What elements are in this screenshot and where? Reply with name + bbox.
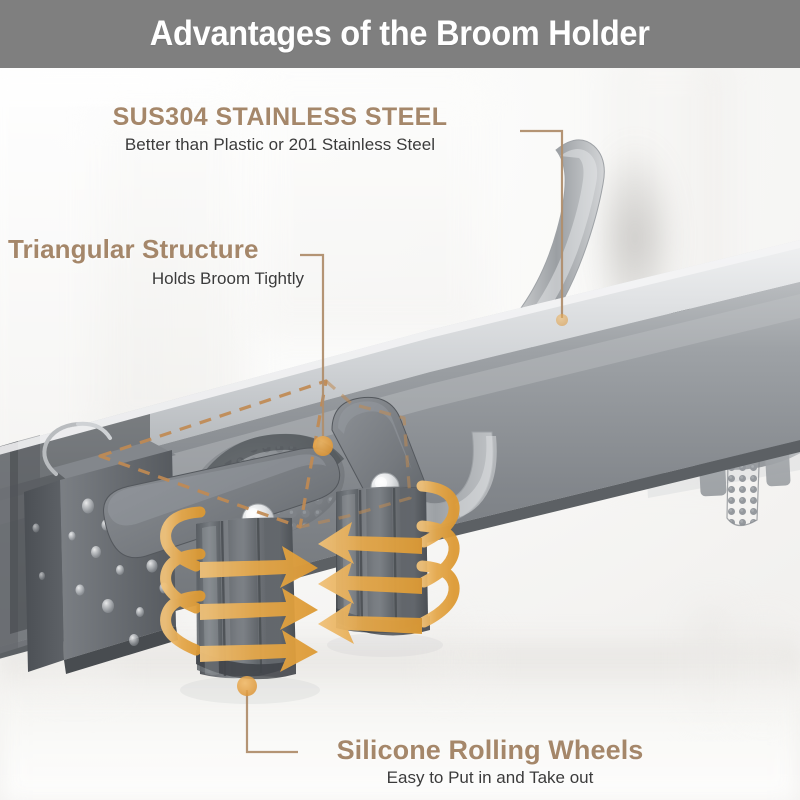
callout-title-triangular: Triangular Structure: [8, 236, 308, 264]
callout-silicone-rolling-wheels: Silicone Rolling Wheels Easy to Put in a…: [290, 736, 690, 787]
wheel-shadow-left: [180, 676, 320, 704]
callout-title-sus304: SUS304 STAINLESS STEEL: [0, 104, 560, 131]
callout-sus304-stainless-steel: SUS304 STAINLESS STEEL Better than Plast…: [0, 104, 560, 154]
wheel-shadow-right: [327, 633, 443, 657]
callout-triangular-structure: Triangular Structure Holds Broom Tightly: [8, 236, 308, 288]
header-banner: Advantages of the Broom Holder: [0, 0, 800, 68]
callout-subtitle-triangular: Holds Broom Tightly: [8, 269, 308, 289]
callout-title-silicone: Silicone Rolling Wheels: [290, 736, 690, 765]
callout-subtitle-silicone: Easy to Put in and Take out: [290, 768, 690, 788]
roller-wheel-left: [196, 518, 296, 680]
product-infographic: Advantages of the Broom Holder: [0, 0, 800, 800]
roller-wheel-right: [336, 487, 430, 636]
page-title: Advantages of the Broom Holder: [150, 14, 650, 54]
callout-subtitle-sus304: Better than Plastic or 201 Stainless Ste…: [0, 135, 560, 155]
